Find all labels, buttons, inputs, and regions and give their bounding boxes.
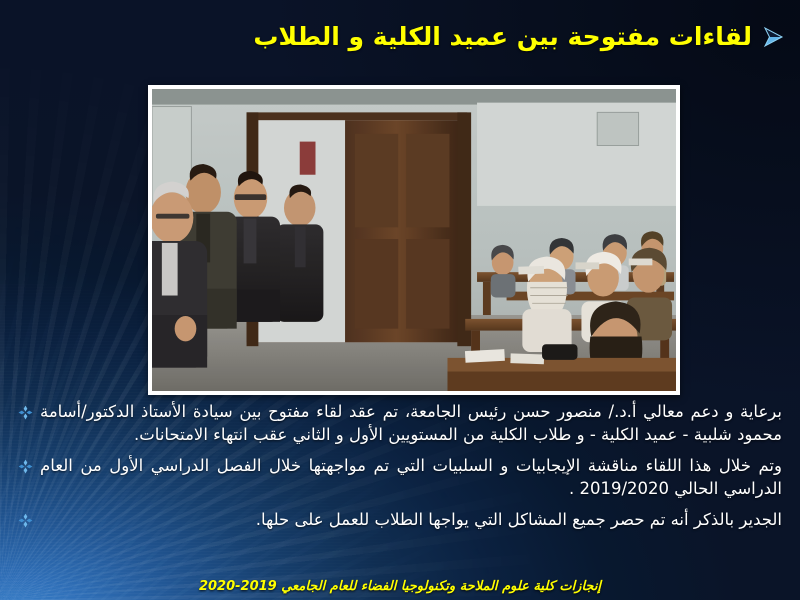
- meeting-photograph: [152, 89, 676, 391]
- page-title: لقاءات مفتوحة بين عميد الكلية و الطلاب: [253, 22, 752, 52]
- photo-frame: [148, 85, 680, 395]
- list-item: الجدير بالذكر أنه تم حصر جميع المشاكل ال…: [18, 508, 782, 531]
- arrowhead-right-icon: [760, 24, 786, 50]
- bullet-text: وتم خلال هذا اللقاء مناقشة الإيجابيات و …: [40, 454, 782, 501]
- slide-footer: إنجازات كلية علوم الملاحة وتكنولوجيا الف…: [0, 579, 800, 594]
- diamond-cluster-bullet-icon: [18, 459, 33, 474]
- bullet-text: برعاية و دعم معالي أ.د./ منصور حسن رئيس …: [40, 400, 782, 447]
- body-bullet-list: برعاية و دعم معالي أ.د./ منصور حسن رئيس …: [18, 400, 782, 531]
- list-item: برعاية و دعم معالي أ.د./ منصور حسن رئيس …: [18, 400, 782, 447]
- bullet-text: الجدير بالذكر أنه تم حصر جميع المشاكل ال…: [40, 508, 782, 531]
- slide-canvas: لقاءات مفتوحة بين عميد الكلية و الطلاب: [0, 0, 800, 600]
- diamond-cluster-bullet-icon: [18, 405, 33, 420]
- diamond-cluster-bullet-icon: [18, 513, 33, 528]
- slide-title-bar: لقاءات مفتوحة بين عميد الكلية و الطلاب: [0, 8, 800, 66]
- list-item: وتم خلال هذا اللقاء مناقشة الإيجابيات و …: [18, 454, 782, 501]
